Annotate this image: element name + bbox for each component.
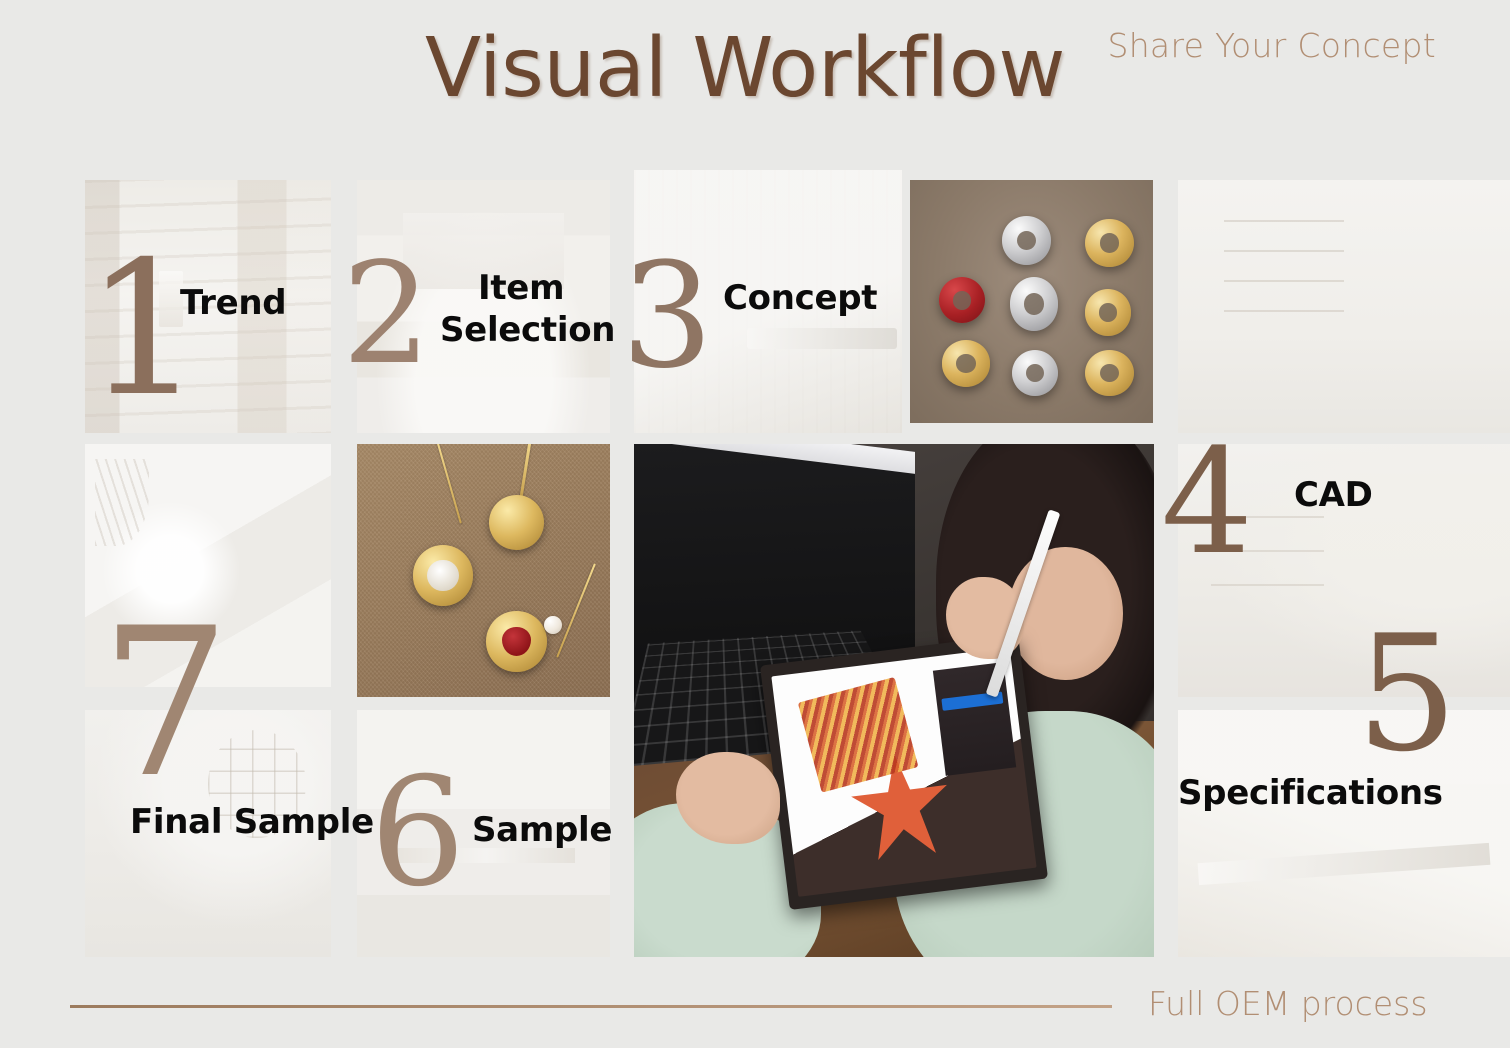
tablet (760, 634, 1048, 910)
ring-gold-dome (1085, 219, 1134, 268)
visual-workflow-poster: Visual Workflow Share Your Concept (0, 0, 1510, 1048)
ring-silver-bubble (1012, 350, 1058, 396)
step-number-6: 6 (370, 772, 465, 895)
pendant-coin (489, 495, 545, 551)
pendant-heart-ruby (486, 611, 547, 672)
step-label-specifications: Specifications (1178, 774, 1443, 812)
photo-necklaces (357, 444, 610, 697)
ring-gold-signet (1085, 350, 1134, 396)
step-label-concept: Concept (723, 279, 877, 317)
step-number-1: 1 (85, 254, 203, 406)
footer-note: Full OEM process (1148, 984, 1428, 1023)
step-label-sample: Sample (472, 811, 612, 849)
step-label-trend: Trend (180, 284, 286, 322)
step-label-item: Item (478, 269, 564, 307)
photo-counter (1178, 710, 1510, 957)
step-number-5: 5 (1356, 628, 1458, 759)
step-number-2: 2 (342, 258, 431, 373)
step-label-final-sample: Final Sample (130, 803, 374, 841)
ring-silver-dome (1002, 216, 1051, 265)
ring-gold-heart (1085, 289, 1131, 335)
step-number-3: 3 (621, 258, 713, 377)
tablet-ui-panel (933, 662, 1017, 776)
photo-desk-designer (634, 444, 1154, 957)
tagline: Share Your Concept (1107, 26, 1436, 65)
ring-gold-twist (942, 340, 991, 386)
photo-shelf-room (1178, 180, 1510, 433)
ring-silver-oval (1010, 277, 1059, 330)
laptop-menubar (634, 444, 915, 474)
ring-red-enamel (939, 277, 985, 323)
photo-rings (910, 180, 1153, 423)
step-label-cad: CAD (1294, 476, 1373, 514)
pearl-bead (544, 616, 562, 634)
counter-image (1178, 710, 1510, 957)
step-number-7: 7 (100, 620, 230, 788)
shelf-room-image (1178, 180, 1510, 433)
step-label-selection: Selection (440, 311, 615, 349)
footer-divider (70, 1005, 1112, 1008)
step-number-4: 4 (1161, 444, 1253, 563)
pendant-moonstone (413, 545, 474, 606)
